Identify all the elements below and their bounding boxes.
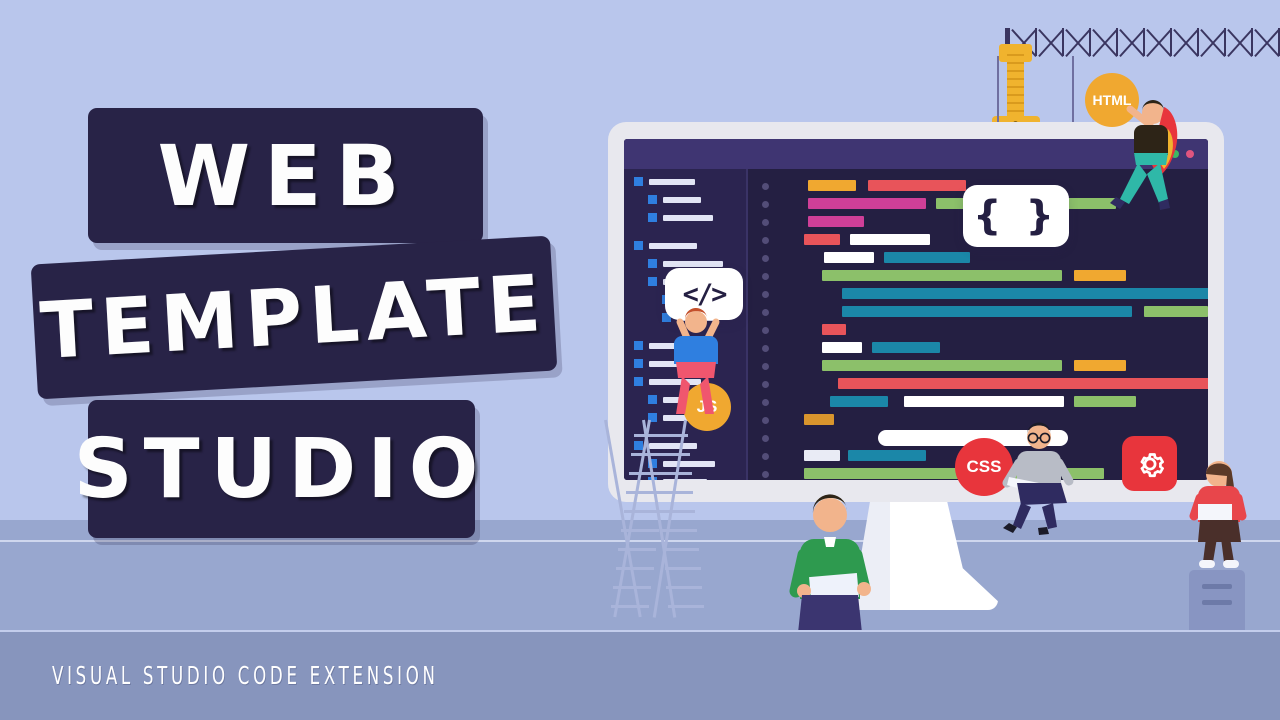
crane-column-rung <box>1007 54 1024 56</box>
ladder-rung <box>624 510 662 513</box>
code-line-segment <box>868 180 966 191</box>
gutter-dot <box>762 435 769 442</box>
ladder-rung <box>611 605 649 608</box>
code-line-segment <box>850 234 930 245</box>
file-icon <box>634 341 643 350</box>
file-label-bar <box>663 197 701 203</box>
step-ladder <box>600 420 730 620</box>
file-icon <box>634 359 643 368</box>
code-line-segment <box>822 342 862 353</box>
crane-column-rung <box>1007 78 1024 80</box>
gutter-dot <box>762 201 769 208</box>
file-icon <box>648 259 657 268</box>
crane-column-rung <box>1007 86 1024 88</box>
file-label-bar <box>663 215 713 221</box>
person-seated-dev <box>995 415 1087 535</box>
ladder-rung <box>616 567 654 570</box>
file-label-bar <box>649 179 695 185</box>
code-line-segment <box>904 396 1064 407</box>
code-line-segment <box>804 414 834 425</box>
gear-icon <box>1133 447 1167 481</box>
ladder-rung <box>659 510 695 513</box>
title-stack: WEB TEMPLATE STUDIO <box>0 100 580 550</box>
gutter-dot <box>762 309 769 316</box>
file-icon <box>634 241 643 250</box>
crane-truss-cell <box>1224 28 1253 56</box>
gutter-dot <box>762 345 769 352</box>
file-icon <box>634 177 643 186</box>
bottom-banner: VISUAL STUDIO CODE EXTENSION <box>0 630 1280 720</box>
file-tree-row[interactable] <box>634 241 697 250</box>
title-box-web: WEB <box>88 108 483 243</box>
crane-beam-icon <box>1005 28 1280 56</box>
crane-truss-cell <box>1197 28 1226 56</box>
file-icon <box>648 195 657 204</box>
person-html-reacher <box>1108 95 1194 220</box>
ladder-rung <box>661 529 697 532</box>
code-line-segment <box>808 198 926 209</box>
settings-gear-card <box>1122 436 1177 491</box>
crane-column-rung <box>1007 110 1024 112</box>
title-line-2: TEMPLATE <box>38 258 550 376</box>
title-line-3: STUDIO <box>74 422 490 517</box>
crane-truss-cell <box>1035 28 1064 56</box>
sidebar-divider <box>746 169 748 480</box>
crane-truss-cell <box>1116 28 1145 56</box>
ladder-rung <box>621 529 659 532</box>
code-line-segment <box>822 270 1062 281</box>
title-line-1: WEB <box>157 127 413 225</box>
code-line-segment <box>1144 306 1208 317</box>
code-line-segment <box>830 396 888 407</box>
curly-brace-card: { } <box>963 185 1069 247</box>
banner-subtitle: VISUAL STUDIO CODE EXTENSION <box>52 661 439 690</box>
crane-column-rung <box>1007 70 1024 72</box>
gutter-dot <box>762 471 769 478</box>
ladder-rung <box>618 548 656 551</box>
editor-gutter <box>762 169 776 480</box>
gutter-dot <box>762 183 769 190</box>
gutter-dot <box>762 381 769 388</box>
file-tree-row[interactable] <box>648 213 713 222</box>
code-line-segment <box>824 252 874 263</box>
crane-column-rung <box>1007 102 1024 104</box>
gutter-dot <box>762 291 769 298</box>
gutter-dot <box>762 255 769 262</box>
banner-top-rule <box>0 630 1280 632</box>
person-climber <box>660 300 732 418</box>
code-line-segment <box>1074 396 1136 407</box>
code-line-segment <box>804 450 840 461</box>
ladder-rung <box>629 472 667 475</box>
code-line-segment <box>804 234 840 245</box>
file-icon <box>648 277 657 286</box>
crane-column-rung <box>1007 94 1024 96</box>
illustration-canvas: { } </> HTML JS CSS <box>0 0 1280 720</box>
ladder-rung <box>631 453 669 456</box>
code-line-segment <box>1074 360 1126 371</box>
code-line-segment <box>842 306 1132 317</box>
person-woman-reading <box>1186 450 1252 574</box>
gutter-dot <box>762 399 769 406</box>
ladder-rung <box>626 491 664 494</box>
code-line-segment <box>808 180 856 191</box>
gutter-dot <box>762 237 769 244</box>
gutter-dot <box>762 327 769 334</box>
gutter-dot <box>762 453 769 460</box>
title-box-studio: STUDIO <box>88 400 475 538</box>
pedestal <box>1189 570 1245 630</box>
code-line-segment <box>838 378 1208 389</box>
ladder-rung <box>668 605 704 608</box>
code-line-segment <box>1074 270 1126 281</box>
curly-brace-glyph: { } <box>973 193 1059 239</box>
ladder-rung <box>666 586 702 589</box>
crane-truss-cell <box>1251 28 1280 56</box>
file-tree-row[interactable] <box>648 195 701 204</box>
file-tree-row[interactable] <box>634 177 695 186</box>
crane-truss-cell <box>1062 28 1091 56</box>
crane-truss-cell <box>1089 28 1118 56</box>
code-line-segment <box>872 342 940 353</box>
file-icon <box>634 377 643 386</box>
code-line-segment <box>848 450 926 461</box>
crane-truss-cell <box>1143 28 1172 56</box>
gutter-dot <box>762 273 769 280</box>
code-line-segment <box>808 216 864 227</box>
file-icon <box>648 395 657 404</box>
file-tree-row[interactable] <box>648 259 723 268</box>
code-line-segment <box>884 252 970 263</box>
ladder-rung <box>634 434 672 437</box>
code-line-segment <box>842 288 1208 299</box>
ladder-rung <box>665 567 701 570</box>
title-box-template: TEMPLATE <box>31 236 558 400</box>
gutter-dot <box>762 219 769 226</box>
gutter-dot <box>762 363 769 370</box>
ladder-rung <box>663 548 699 551</box>
code-line-segment <box>822 360 1062 371</box>
file-label-bar <box>649 243 697 249</box>
crane-column-icon <box>1007 50 1024 120</box>
file-label-bar <box>663 261 723 267</box>
gutter-dot <box>762 417 769 424</box>
code-line-segment <box>822 324 846 335</box>
crane-truss-cell <box>1170 28 1199 56</box>
file-icon <box>648 213 657 222</box>
ladder-rung <box>613 586 651 589</box>
crane-column-rung <box>1007 62 1024 64</box>
